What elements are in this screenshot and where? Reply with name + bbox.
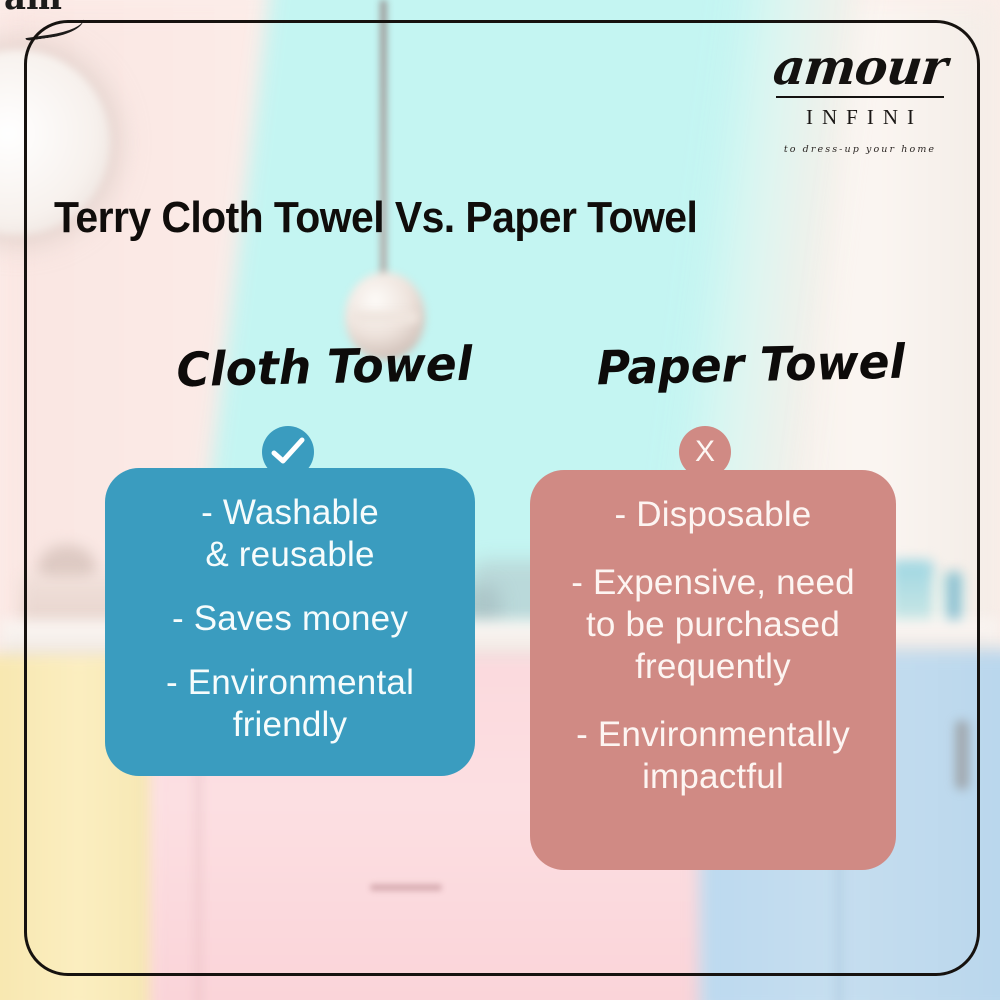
- page-title: Terry Cloth Towel Vs. Paper Towel: [54, 190, 697, 246]
- brand-divider-rule: [776, 96, 944, 98]
- list-item: - Expensive, need to be purchased freque…: [557, 562, 869, 688]
- comparison-card-paper: - Disposable - Expensive, need to be pur…: [530, 470, 896, 870]
- column-title-paper: Paper Towel: [596, 335, 905, 397]
- brand-subname: INFINI: [754, 105, 966, 130]
- list-item: - Disposable: [601, 494, 826, 536]
- list-item: - Environmentally impactful: [562, 714, 864, 798]
- poster-canvas: am amour INFINI to dress-up your home Te…: [0, 0, 1000, 1000]
- background-cabinet-blue-knob: [955, 720, 969, 790]
- list-item: - Washable & reusable: [187, 492, 393, 576]
- column-title-cloth: Cloth Towel: [176, 337, 473, 398]
- background-shelf-item-a: [890, 560, 934, 628]
- brand-logo: amour INFINI to dress-up your home: [754, 40, 966, 155]
- check-icon: [262, 426, 314, 478]
- brand-name: amour: [751, 40, 969, 94]
- brand-tagline: to dress-up your home: [754, 144, 966, 155]
- x-icon-glyph: X: [695, 437, 715, 467]
- x-icon: X: [679, 426, 731, 478]
- background-cabinet-handle: [370, 884, 442, 891]
- background-pendant-bulb-band: [352, 312, 418, 323]
- list-item: - Saves money: [158, 598, 422, 640]
- list-item: - Environmental friendly: [152, 662, 428, 746]
- background-pendant-cord: [380, 0, 387, 290]
- comparison-card-cloth: - Washable & reusable - Saves money - En…: [105, 468, 475, 776]
